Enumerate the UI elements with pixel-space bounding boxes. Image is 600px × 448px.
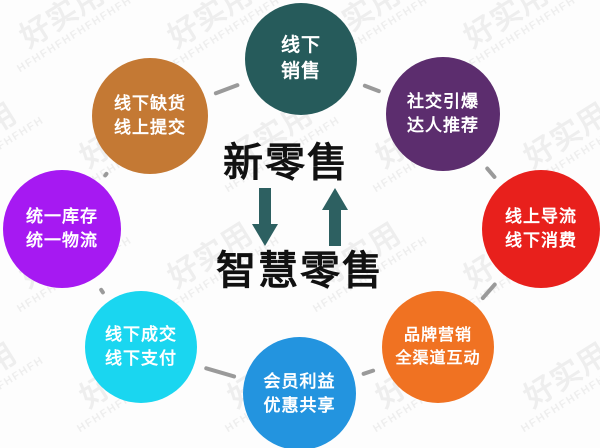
infographic-canvas: 好实用HFHFHFHFHFHFHFH好实用HFHFHFHFHFHFHFH好实用H… [0, 0, 600, 448]
node-label-line1: 线下 [281, 33, 321, 59]
node-label-line1: 社交引爆 [407, 90, 479, 114]
node-label-line1: 线上导流 [505, 205, 577, 229]
node-label-line1: 会员利益 [264, 370, 336, 394]
node-label-line2: 线上提交 [114, 116, 186, 140]
node-label-line1: 统一库存 [26, 205, 98, 229]
node-label-line2: 统一物流 [26, 229, 98, 253]
node-brand-marketing-omnichannel[interactable]: 品牌营销全渠道互动 [382, 291, 494, 403]
node-online-traffic-offline-spend[interactable]: 线上导流线下消费 [482, 170, 600, 288]
node-label-line2: 销售 [281, 59, 321, 85]
node-label-line1: 线下成交 [105, 323, 177, 347]
node-label-line1: 线下缺货 [114, 92, 186, 116]
node-label-line2: 线下支付 [105, 347, 177, 371]
node-member-benefits-sharing[interactable]: 会员利益优惠共享 [243, 337, 356, 448]
node-offline-shortage-online-order[interactable]: 线下缺货线上提交 [92, 58, 208, 174]
node-offline-deal-offline-pay[interactable]: 线下成交线下支付 [85, 291, 197, 403]
node-label-line2: 线下消费 [505, 229, 577, 253]
node-social-influencer[interactable]: 社交引爆达人推荐 [386, 57, 500, 171]
node-unified-stock-logistics[interactable]: 统一库存统一物流 [3, 170, 121, 288]
node-label-line1: 品牌营销 [404, 324, 472, 347]
node-offline-sales[interactable]: 线下销售 [245, 3, 357, 115]
node-layer: 线下销售社交引爆达人推荐线上导流线下消费品牌营销全渠道互动会员利益优惠共享线下成… [0, 0, 600, 448]
node-label-line2: 优惠共享 [264, 394, 336, 418]
node-label-line2: 全渠道互动 [395, 347, 480, 370]
node-label-line2: 达人推荐 [407, 114, 479, 138]
